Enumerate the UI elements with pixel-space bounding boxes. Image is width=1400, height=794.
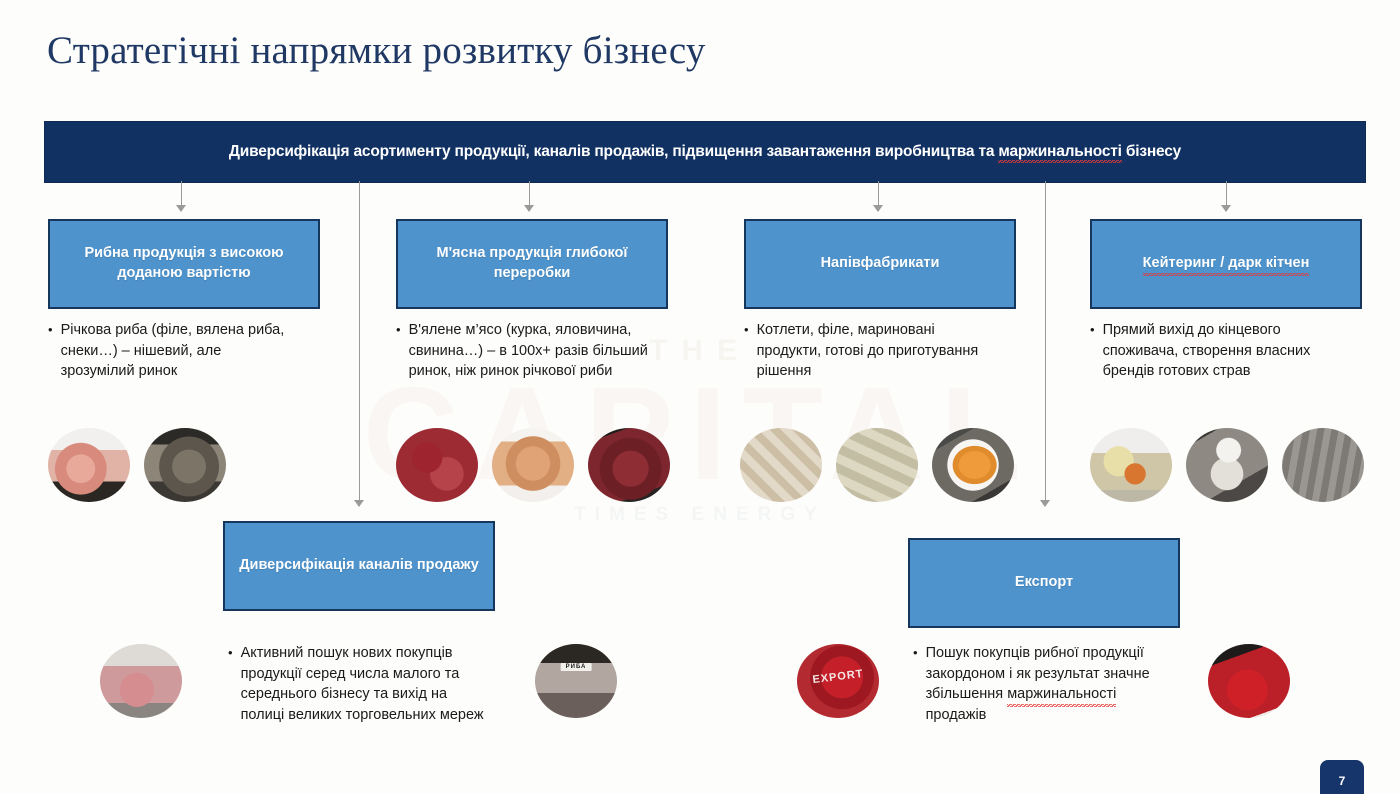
fish-fillet-photo (48, 428, 130, 502)
main-strategy-banner-text: Диверсифікація асортименту продукції, ка… (229, 143, 1181, 161)
fish-store-front-photo: РИБА (535, 644, 617, 718)
bullet-fish-products-text: Річкова риба (філе, вялена риба, снеки…)… (61, 320, 298, 382)
page-number-label: 7 (1339, 760, 1346, 788)
watermark-bottom-text: TIMES ENERGY (574, 504, 826, 526)
export-stamp-photo-wrap: EXPORT (797, 644, 879, 718)
fish-store-sign-label: РИБА (561, 663, 592, 671)
slide: THE CAPITAL TIMES ENERGY Стратегічні нап… (0, 0, 1400, 788)
export-stamp-photo: EXPORT (797, 644, 879, 718)
bullet-dot: • (913, 643, 918, 725)
bullet-semi-finished: • Котлети, філе, мариновані продукти, го… (744, 320, 996, 382)
bullet-semi-finished-text: Котлети, філе, мариновані продукти, гото… (757, 320, 996, 382)
red-crates-packing-photo (1208, 644, 1290, 718)
category-box-sales-diversification-label: Диверсифікація каналів продажу (239, 556, 479, 576)
bullet-dot: • (396, 320, 401, 382)
category-box-meat-products-label: М'ясна продукція глибокої переробки (410, 244, 654, 283)
connector-line-export (1045, 181, 1046, 506)
photo-row-catering (1090, 428, 1364, 502)
photo-row-fish (48, 428, 322, 502)
connector-line-sales-diversification (359, 181, 360, 506)
packed-trays-photo (740, 428, 822, 502)
category-box-semi-finished[interactable]: Напівфабрикати (744, 219, 1016, 309)
category-box-export-label: Експорт (1015, 573, 1073, 593)
connector-arrow-sales-diversification (354, 500, 364, 507)
bullet-sales-diversification: • Активний пошук нових покупців продукці… (228, 643, 490, 725)
dumplings-trays-photo (836, 428, 918, 502)
bullet-dot: • (48, 320, 53, 382)
banner-text-flagged: маржинальності (998, 143, 1121, 161)
connector-arrow-col2 (524, 205, 534, 212)
category-box-meat-products[interactable]: М'ясна продукція глибокої переробки (396, 219, 668, 309)
banner-text-part-2: бізнесу (1122, 143, 1181, 160)
dried-fish-snacks-photo (240, 428, 322, 502)
banner-text-part-1: Диверсифікація асортименту продукції, ка… (229, 143, 998, 160)
bullet-catering-text: Прямий вихід до кінцевого споживача, ств… (1103, 320, 1352, 382)
commercial-kitchen-photo (1282, 428, 1364, 502)
photo-row-semi-finished (740, 428, 1014, 502)
bullet-dot: • (744, 320, 749, 382)
category-box-catering-label: Кейтеринг / дарк кітчен (1143, 254, 1310, 274)
supermarket-counter-photo (100, 644, 182, 718)
bullet-dot: • (228, 643, 233, 725)
frozen-fish-photo (144, 428, 226, 502)
dried-meat-chips-photo (492, 428, 574, 502)
supermarket-counter-photo-wrap (100, 644, 182, 718)
bullet-fish-products: • Річкова риба (філе, вялена риба, снеки… (48, 320, 298, 382)
fish-store-front-photo-wrap: РИБА (535, 644, 617, 718)
bullet-export-text-part-2: продажів (926, 707, 987, 723)
category-box-fish-products-label: Рибна продукція з високою доданою вартіс… (62, 244, 306, 283)
export-stamp-label: EXPORT (812, 668, 864, 686)
category-box-sales-diversification[interactable]: Диверсифікація каналів продажу (223, 521, 495, 611)
salmon-block-photo (932, 428, 1014, 502)
category-box-fish-products[interactable]: Рибна продукція з високою доданою вартіс… (48, 219, 320, 309)
category-box-export[interactable]: Експорт (908, 538, 1180, 628)
chef-cooking-photo (1186, 428, 1268, 502)
category-box-semi-finished-label: Напівфабрикати (821, 254, 940, 274)
main-strategy-banner: Диверсифікація асортименту продукції, ка… (44, 121, 1366, 183)
bullet-export-text-flagged: маржинальності (1007, 684, 1116, 705)
bullet-meat-products: • В'ялене м’ясо (курка, яловичина, свини… (396, 320, 676, 382)
bullet-catering: • Прямий вихід до кінцевого споживача, с… (1090, 320, 1352, 382)
page-title: Стратегічні напрямки розвитку бізнесу (47, 28, 706, 73)
red-crates-packing-photo-wrap (1208, 644, 1290, 718)
bullet-meat-products-text: В'ялене м’ясо (курка, яловичина, свинина… (409, 320, 676, 382)
bullet-export-text: Пошук покупців рибної продукції закордон… (926, 643, 1165, 725)
connector-arrow-col1 (176, 205, 186, 212)
page-number-badge: 7 (1320, 760, 1364, 794)
bullet-dot: • (1090, 320, 1095, 382)
raw-meat-photo (396, 428, 478, 502)
category-box-catering[interactable]: Кейтеринг / дарк кітчен (1090, 219, 1362, 309)
catering-buffet-photo (1090, 428, 1172, 502)
bullet-sales-diversification-text: Активний пошук нових покупців продукції … (241, 643, 490, 725)
connector-arrow-col3 (873, 205, 883, 212)
bullet-export: • Пошук покупців рибної продукції закорд… (913, 643, 1165, 725)
connector-arrow-export (1040, 500, 1050, 507)
dark-beef-photo (588, 428, 670, 502)
connector-arrow-col4 (1221, 205, 1231, 212)
photo-row-meat (396, 428, 670, 502)
